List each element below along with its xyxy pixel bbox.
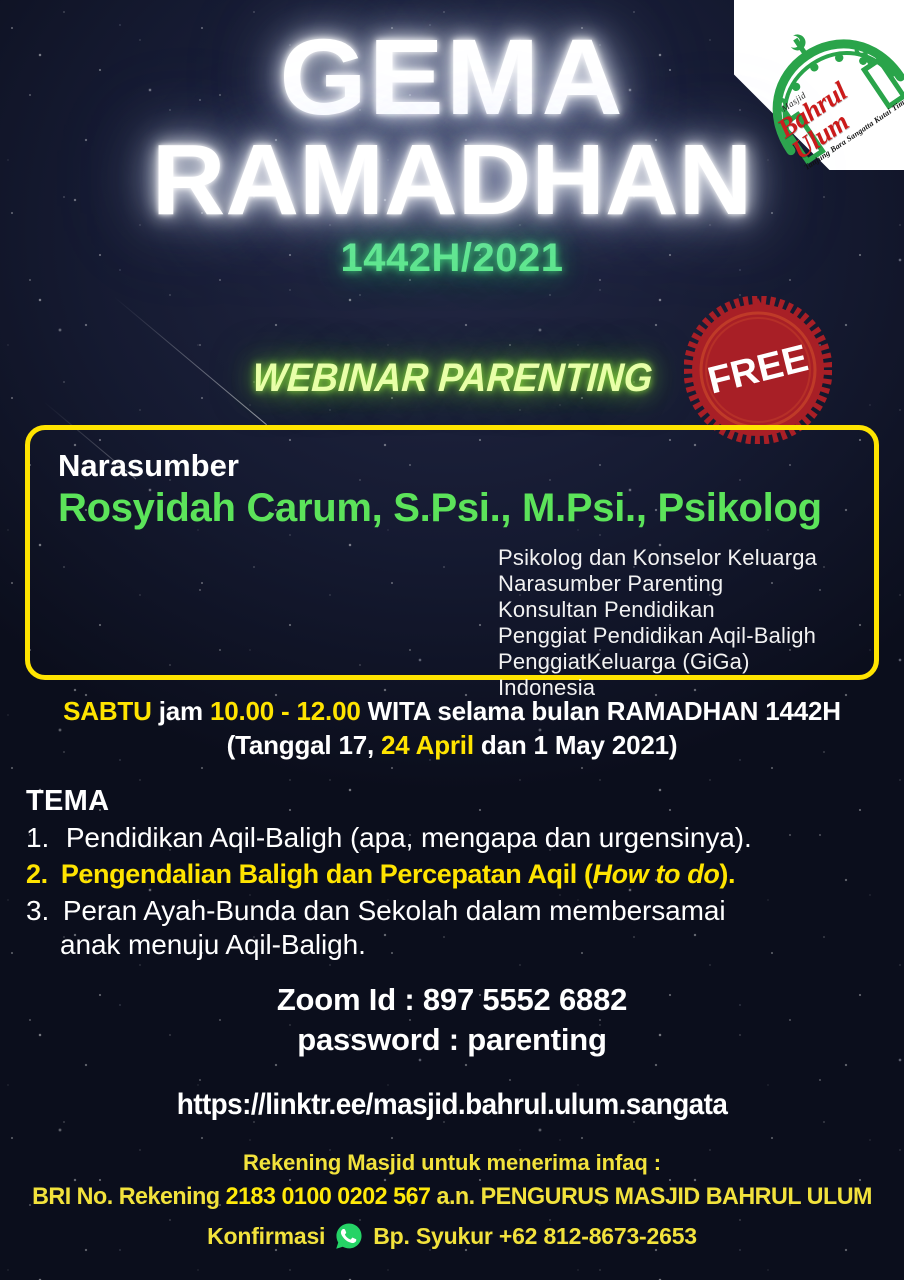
schedule-dates-pre: (Tanggal 17, <box>227 730 381 760</box>
tema-list: 1. Pendidikan Aqil-Baligh (apa, mengapa … <box>26 821 880 962</box>
footer-contact-row: Konfirmasi Bp. Syukur +62 812-8673-2653 <box>0 1221 904 1251</box>
headline-block: GEMA RAMADHAN 1442H/2021 <box>0 24 904 281</box>
schedule-tz-month: WITA selama bulan RAMADHAN 1442H <box>361 696 841 726</box>
registration-link-row[interactable]: https://linktr.ee/masjid.bahrul.ulum.san… <box>0 1088 904 1122</box>
schedule-dates-post: dan 1 May 2021) <box>474 730 677 760</box>
credential-item: Penggiat Pendidikan Aqil-Baligh <box>498 623 850 649</box>
schedule-day: SABTU <box>63 696 152 726</box>
tema-item-1: 1. Pendidikan Aqil-Baligh (apa, mengapa … <box>26 821 880 855</box>
speaker-heading: Narasumber <box>58 448 850 484</box>
tema-item-1-number: 1. <box>26 822 49 853</box>
tema-title: TEMA <box>26 785 880 818</box>
tema-item-3: 3. Peran Ayah-Bunda dan Sekolah dalam me… <box>26 894 880 962</box>
speaker-credentials: Psikolog dan Konselor Keluarga Narasumbe… <box>58 545 850 701</box>
free-badge: FREE <box>684 296 832 444</box>
tema-item-3-number: 3. <box>26 895 49 926</box>
tema-item-3-text: Peran Ayah-Bunda dan Sekolah dalam membe… <box>63 895 726 926</box>
tema-item-2-text-italic: How to do <box>593 859 720 889</box>
schedule-block: SABTU jam 10.00 - 12.00 WITA selama bula… <box>0 694 904 763</box>
credential-item: Narasumber Parenting <box>498 571 850 597</box>
footer-account-number: 2183 0100 0202 567 <box>226 1183 431 1210</box>
credential-item: Psikolog dan Konselor Keluarga <box>498 545 850 571</box>
schedule-line-2: (Tanggal 17, 24 April dan 1 May 2021) <box>0 728 904 762</box>
credential-item: PenggiatKeluarga (GiGa) Indonesia <box>498 649 850 701</box>
schedule-time: 10.00 - 12.00 <box>210 696 361 726</box>
tema-item-3-text-cont: anak menuju Aqil-Baligh. <box>60 928 880 962</box>
tema-item-2-text-before: Pengendalian Baligh dan Percepatan Aqil … <box>61 859 593 889</box>
schedule-jam-word: jam <box>152 696 210 726</box>
tema-item-2-number: 2. <box>26 859 48 889</box>
ramadhan-webinar-poster: Masjid Bahrul Ulum Tanjung Bara Sangatta… <box>0 0 904 1280</box>
speaker-box: Narasumber Rosyidah Carum, S.Psi., M.Psi… <box>25 425 879 680</box>
whatsapp-icon[interactable] <box>334 1221 364 1251</box>
footer-bank-prefix: BRI No. Rekening <box>32 1183 226 1210</box>
schedule-line-1: SABTU jam 10.00 - 12.00 WITA selama bula… <box>0 694 904 728</box>
credential-item: Konsultan Pendidikan <box>498 597 850 623</box>
speaker-name: Rosyidah Carum, S.Psi., M.Psi., Psikolog <box>58 486 850 531</box>
tema-item-2-text-after: ). <box>719 859 735 889</box>
zoom-password: password : parenting <box>0 1020 904 1060</box>
title-year: 1442H/2021 <box>0 236 904 281</box>
schedule-date-highlight: 24 April <box>381 730 474 760</box>
footer-account-holder: a.n. PENGURUS MASJID BAHRUL ULUM <box>430 1183 871 1210</box>
title-gema: GEMA <box>0 24 904 130</box>
footer-block: Rekening Masjid untuk menerima infaq : B… <box>0 1150 904 1251</box>
zoom-info-block: Zoom Id : 897 5552 6882 password : paren… <box>0 980 904 1061</box>
tema-item-1-text: Pendidikan Aqil-Baligh (apa, mengapa dan… <box>66 822 752 853</box>
footer-donation-label: Rekening Masjid untuk menerima infaq : <box>0 1150 904 1176</box>
tema-block: TEMA 1. Pendidikan Aqil-Baligh (apa, men… <box>26 785 880 962</box>
title-ramadhan: RAMADHAN <box>0 130 904 230</box>
footer-confirm-label: Konfirmasi <box>207 1223 325 1250</box>
tema-item-2: 2. Pengendalian Baligh dan Percepatan Aq… <box>26 858 880 891</box>
webinar-label: WEBINAR PARENTING <box>251 356 654 401</box>
zoom-id: Zoom Id : 897 5552 6882 <box>0 980 904 1020</box>
footer-contact-number: Bp. Syukur +62 812-8673-2653 <box>373 1223 697 1250</box>
footer-bank-account: BRI No. Rekening 2183 0100 0202 567 a.n.… <box>14 1183 891 1211</box>
linktree-url[interactable]: https://linktr.ee/masjid.bahrul.ulum.san… <box>177 1088 728 1122</box>
